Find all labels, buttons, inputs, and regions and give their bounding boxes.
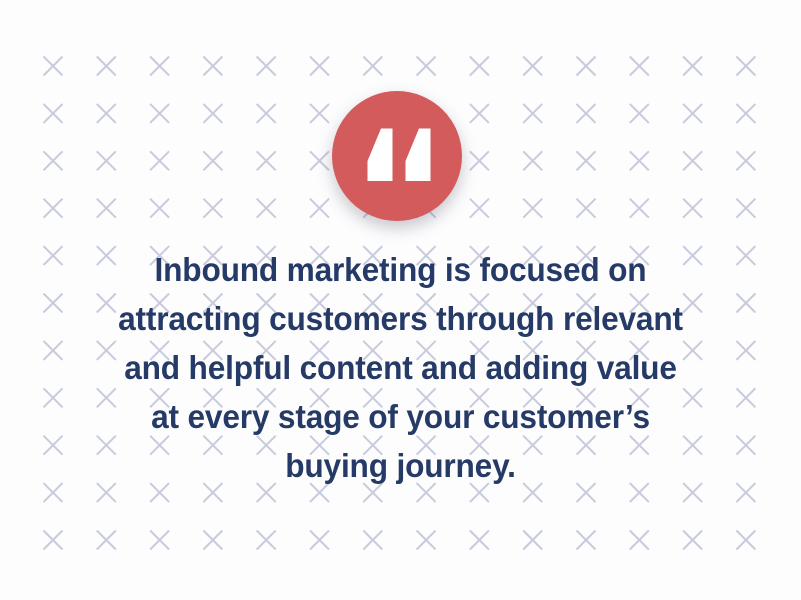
x-cross-icon xyxy=(310,104,329,123)
x-cross-icon xyxy=(683,151,702,170)
x-cross-icon xyxy=(363,531,382,550)
x-cross-icon xyxy=(310,151,329,170)
x-cross-icon xyxy=(150,151,169,170)
x-cross-icon xyxy=(203,199,222,218)
x-cross-icon xyxy=(523,199,542,218)
x-cross-icon xyxy=(150,531,169,550)
x-cross-icon xyxy=(44,57,63,76)
x-cross-icon xyxy=(150,57,169,76)
x-cross-icon xyxy=(44,151,63,170)
x-cross-icon xyxy=(577,531,596,550)
quote-card: Inbound marketing is focused on attracti… xyxy=(0,0,801,600)
x-cross-icon xyxy=(683,104,702,123)
x-cross-icon xyxy=(577,151,596,170)
x-cross-icon xyxy=(630,104,649,123)
x-cross-icon xyxy=(203,531,222,550)
x-cross-icon xyxy=(97,104,116,123)
x-cross-icon xyxy=(203,151,222,170)
x-cross-icon xyxy=(630,199,649,218)
x-cross-icon xyxy=(203,57,222,76)
quote-line-2: attracting customers through relevant xyxy=(69,295,731,344)
x-cross-icon xyxy=(97,57,116,76)
x-cross-icon xyxy=(310,199,329,218)
x-cross-icon xyxy=(363,57,382,76)
quotation-mark-icon xyxy=(354,127,440,183)
x-cross-icon xyxy=(736,57,755,76)
x-cross-icon xyxy=(630,151,649,170)
x-cross-icon xyxy=(470,151,489,170)
quote-text: Inbound marketing is focused on attracti… xyxy=(50,246,751,491)
x-cross-icon xyxy=(257,104,276,123)
x-cross-icon xyxy=(470,57,489,76)
x-cross-icon xyxy=(310,531,329,550)
x-cross-icon xyxy=(577,199,596,218)
x-cross-icon xyxy=(203,104,222,123)
x-cross-icon xyxy=(310,57,329,76)
x-cross-icon xyxy=(470,199,489,218)
x-cross-icon xyxy=(44,531,63,550)
x-cross-icon xyxy=(577,57,596,76)
x-cross-icon xyxy=(683,57,702,76)
x-cross-icon xyxy=(470,104,489,123)
quote-badge xyxy=(332,91,462,221)
x-cross-icon xyxy=(150,199,169,218)
x-cross-icon xyxy=(523,151,542,170)
x-cross-icon xyxy=(44,199,63,218)
x-cross-icon xyxy=(44,104,63,123)
x-cross-icon xyxy=(523,531,542,550)
x-cross-icon xyxy=(736,199,755,218)
x-cross-icon xyxy=(683,199,702,218)
quote-line-1: Inbound marketing is focused on xyxy=(69,246,731,295)
x-cross-icon xyxy=(257,531,276,550)
x-cross-icon xyxy=(683,531,702,550)
x-cross-icon xyxy=(150,104,169,123)
x-cross-icon xyxy=(523,104,542,123)
x-cross-icon xyxy=(257,199,276,218)
quote-line-5: buying journey. xyxy=(69,442,731,491)
x-cross-icon xyxy=(417,57,436,76)
x-cross-icon xyxy=(97,199,116,218)
x-cross-icon xyxy=(736,104,755,123)
quote-line-4: at every stage of your customer’s xyxy=(69,393,731,442)
x-cross-icon xyxy=(417,531,436,550)
x-cross-icon xyxy=(736,531,755,550)
quote-line-3: and helpful content and adding value xyxy=(69,344,731,393)
x-cross-icon xyxy=(97,531,116,550)
x-cross-icon xyxy=(97,151,116,170)
x-cross-icon xyxy=(523,57,542,76)
x-cross-icon xyxy=(630,57,649,76)
x-cross-icon xyxy=(257,57,276,76)
x-cross-icon xyxy=(257,151,276,170)
x-cross-icon xyxy=(630,531,649,550)
x-cross-icon xyxy=(470,531,489,550)
x-cross-icon xyxy=(736,151,755,170)
x-cross-icon xyxy=(577,104,596,123)
